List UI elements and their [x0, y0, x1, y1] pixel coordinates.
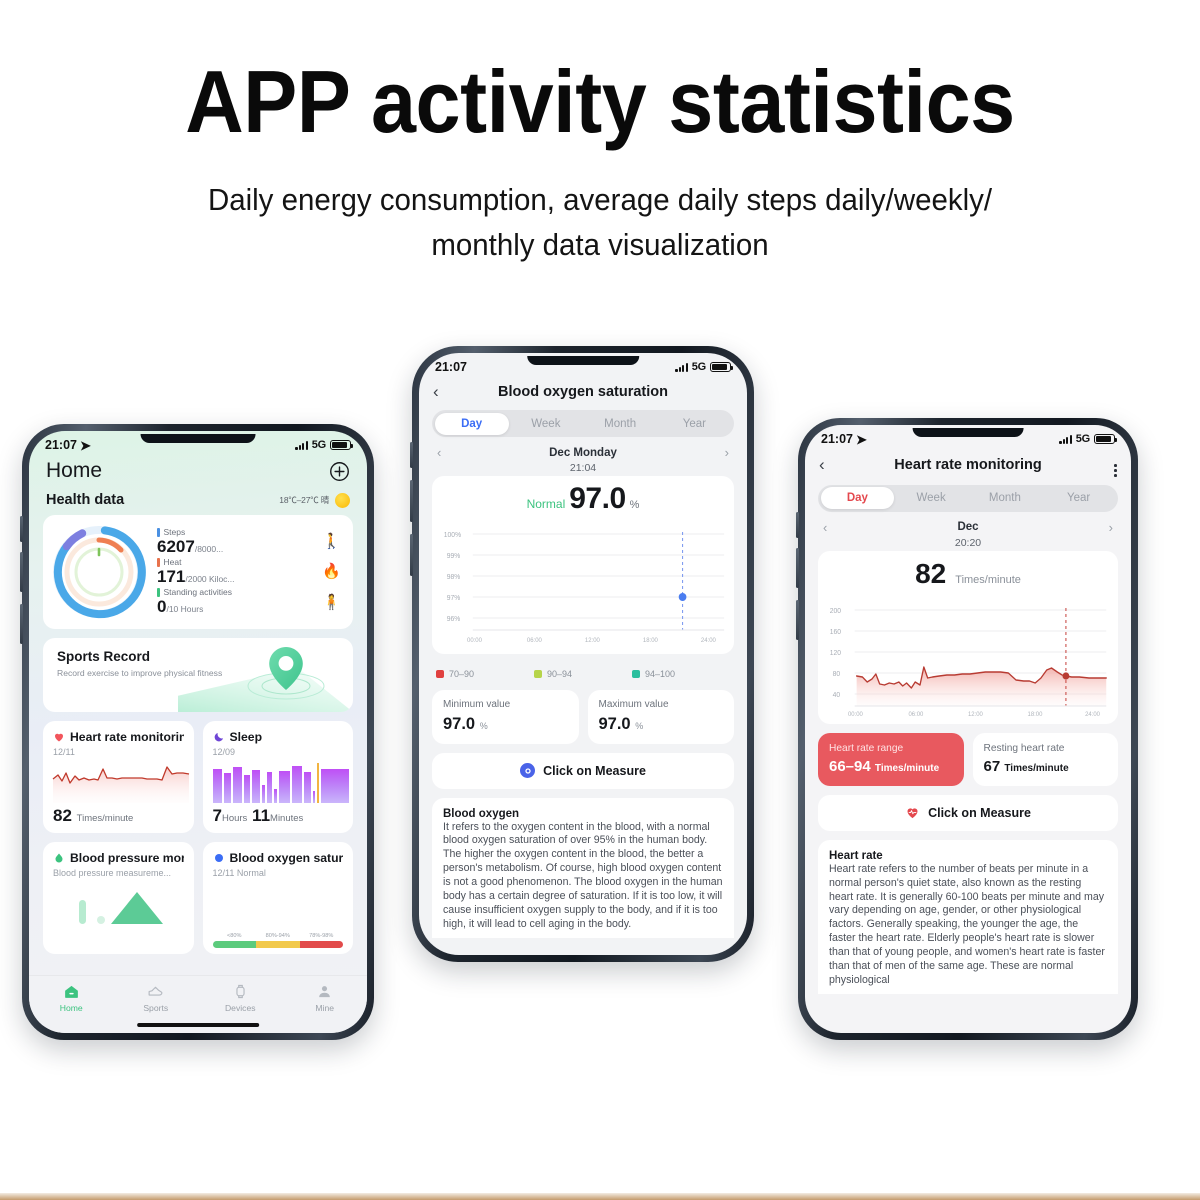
- tab-mine[interactable]: Mine: [283, 983, 368, 1013]
- power-button[interactable]: [796, 600, 799, 640]
- activity-rings: [47, 520, 151, 624]
- network-label: 5G: [692, 361, 706, 373]
- metric-row-steps: Steps 6207/8000... 🚶: [157, 527, 341, 557]
- volume-down-button[interactable]: [796, 548, 799, 588]
- middle-screen: 21:07 5G ‹ Blood oxygen saturation Day W…: [419, 353, 747, 955]
- stat-label: Resting heart rate: [984, 743, 1108, 754]
- legend-swatch: [534, 670, 542, 678]
- info-text: It refers to the oxygen content in the b…: [443, 821, 723, 933]
- tab-devices[interactable]: Devices: [198, 983, 283, 1013]
- back-chevron-left-icon[interactable]: ‹: [433, 382, 453, 402]
- measure-button-label: Click on Measure: [928, 806, 1031, 820]
- mini-card-subtitle: Blood pressure measureme...: [53, 868, 184, 878]
- info-text: Heart rate refers to the number of beats…: [829, 863, 1107, 989]
- mini-card-title: Sleep: [230, 730, 263, 744]
- mini-card-value: 7: [213, 806, 222, 825]
- date-label: Dec: [957, 521, 978, 533]
- standing-icon: 🧍: [322, 595, 341, 610]
- weather-widget: 18℃–27℃ 晴: [279, 493, 350, 508]
- heart-rate-day-chart: 200 160 120 80 40 00:00 06:00 12:00 18:0…: [824, 596, 1112, 718]
- volume-down-button[interactable]: [410, 480, 413, 522]
- metric-row-standing: Standing activities 0/10 Hours 🧍: [157, 587, 341, 617]
- walking-icon: 🚶: [322, 534, 341, 549]
- reading-unit: %: [630, 499, 640, 511]
- status-time: 21:07: [45, 438, 77, 452]
- phone-middle: 21:07 5G ‹ Blood oxygen saturation Day W…: [412, 346, 754, 962]
- legend-item: 70–90: [436, 669, 534, 679]
- stat-value: 97.0: [599, 715, 631, 733]
- stat-value: 97.0: [443, 715, 475, 733]
- svg-text:00:00: 00:00: [467, 637, 483, 644]
- svg-text:24:00: 24:00: [701, 637, 717, 644]
- reading-time: 20:20: [805, 537, 1131, 551]
- measure-button-label: Click on Measure: [543, 764, 646, 778]
- mini-card-unit: Times/minute: [77, 813, 134, 824]
- heart-pulse-icon: [905, 805, 920, 820]
- measure-button[interactable]: Click on Measure: [818, 795, 1118, 831]
- mini-card-unit-2: Minutes: [270, 813, 303, 824]
- minimum-value-card: Minimum value 97.0 %: [432, 690, 579, 744]
- svg-text:100%: 100%: [444, 532, 461, 539]
- svg-text:12:00: 12:00: [968, 711, 983, 717]
- svg-text:40: 40: [833, 691, 841, 698]
- segment-year[interactable]: Year: [1042, 487, 1116, 509]
- mini-card-date: 12/11 Normal: [213, 868, 344, 878]
- notch: [141, 434, 256, 443]
- home-icon: [63, 983, 80, 1000]
- svg-text:96%: 96%: [447, 616, 461, 623]
- volume-up-button[interactable]: [796, 512, 799, 538]
- page-subtitle: Daily energy consumption, average daily …: [154, 178, 1047, 268]
- signal-bars-icon: [1059, 434, 1071, 444]
- resting-heart-rate-card: Resting heart rate 67 Times/minute: [973, 733, 1119, 786]
- tab-sports[interactable]: Sports: [114, 983, 199, 1013]
- metric-unit: /8000...: [195, 544, 223, 554]
- nav-title: Heart rate monitoring: [839, 457, 1097, 473]
- home-header: Home: [29, 455, 367, 483]
- svg-text:120: 120: [830, 649, 841, 656]
- health-data-card[interactable]: Steps 6207/8000... 🚶 Heat 171/2000 Kiloc…: [43, 515, 353, 629]
- next-date-chevron-right-icon[interactable]: ›: [1109, 520, 1113, 535]
- more-vertical-icon[interactable]: [1097, 454, 1117, 477]
- svg-text:18:00: 18:00: [1028, 711, 1043, 717]
- right-body: 82 Times/minute: [805, 551, 1131, 995]
- legend-item: 94–100: [632, 669, 730, 679]
- tab-label: Sports: [143, 1003, 168, 1013]
- network-label: 5G: [1076, 433, 1090, 445]
- legend-swatch: [632, 670, 640, 678]
- mini-card-blood-pressure[interactable]: Blood pressure mor Blood pressure measur…: [43, 842, 194, 954]
- blood-oxygen-info-card: Blood oxygen It refers to the oxygen con…: [432, 798, 734, 939]
- network-label: 5G: [312, 439, 326, 451]
- home-body: Steps 6207/8000... 🚶 Heat 171/2000 Kiloc…: [29, 515, 367, 954]
- stat-unit: %: [635, 721, 643, 731]
- mini-card-unit: Hours: [222, 813, 247, 824]
- map-pin-icon: [178, 638, 353, 712]
- status-time: 21:07: [821, 432, 853, 446]
- reading-status: Normal: [527, 497, 566, 511]
- measure-button[interactable]: Click on Measure: [432, 753, 734, 789]
- plus-circle-icon[interactable]: [329, 461, 350, 482]
- nav-title: Blood oxygen saturation: [453, 384, 713, 400]
- scale-label: 80%-94%: [256, 933, 300, 939]
- notch: [527, 356, 639, 365]
- next-date-chevron-right-icon[interactable]: ›: [725, 445, 729, 460]
- heart-rate-info-card: Heart rate Heart rate refers to the numb…: [818, 840, 1118, 995]
- oxygen-measure-icon: [520, 763, 535, 778]
- mini-cards-row-1: Heart rate monitorin 12/11 82 Times/minu…: [43, 721, 353, 833]
- blood-pressure-illustration: [51, 882, 191, 924]
- chart-legend: 70–90 90–94 94–100: [432, 662, 734, 681]
- segment-month[interactable]: Month: [968, 487, 1042, 509]
- metric-label: Heat: [164, 557, 182, 567]
- scale-label: 78%-98%: [300, 933, 344, 939]
- mini-card-blood-oxygen[interactable]: Blood oxygen satur 12/11 Normal <80% 80%…: [203, 842, 354, 954]
- segment-day[interactable]: Day: [435, 413, 509, 435]
- flame-icon: 🔥: [322, 564, 341, 579]
- tab-label: Mine: [315, 1003, 334, 1013]
- date-label: Dec Monday: [549, 447, 617, 459]
- legend-label: 94–100: [645, 669, 675, 679]
- svg-text:06:00: 06:00: [908, 711, 923, 717]
- blood-oxygen-summary-card: Normal 97.0 %: [432, 476, 734, 654]
- mini-card-title: Blood oxygen satur: [230, 851, 344, 865]
- info-title: Blood oxygen: [443, 808, 723, 820]
- signal-bars-icon: [295, 440, 307, 450]
- notch: [913, 428, 1024, 437]
- stat-value: 66–94: [829, 758, 871, 775]
- blood-oxygen-scale: <80% 80%-94% 78%-98%: [213, 933, 344, 948]
- mini-card-title: Heart rate monitorin: [70, 730, 184, 744]
- date-navigator: ‹ Dec Monday ›: [419, 437, 747, 462]
- svg-text:24:00: 24:00: [1085, 711, 1100, 717]
- mini-card-sleep[interactable]: Sleep 12/09: [203, 721, 354, 833]
- svg-text:160: 160: [830, 628, 841, 635]
- legend-label: 90–94: [547, 669, 572, 679]
- right-screen: 21:07 ➤ 5G ‹ Heart rate monitoring Day W: [805, 425, 1131, 1033]
- mini-card-date: 12/11: [53, 747, 184, 757]
- mini-card-value-2: 11: [252, 806, 270, 825]
- phone-right: 21:07 ➤ 5G ‹ Heart rate monitoring Day W: [798, 418, 1138, 1040]
- heart-rate-range-card: Heart rate range 66–94 Times/minute: [818, 733, 964, 786]
- heart-rate-summary-card: 82 Times/minute: [818, 551, 1118, 724]
- circle-icon: [213, 852, 225, 864]
- weather-text: 18℃–27℃ 晴: [279, 494, 329, 506]
- battery-icon: [330, 440, 351, 451]
- signal-bars-icon: [675, 362, 687, 372]
- health-data-title: Health data: [46, 492, 124, 508]
- sun-icon: [335, 493, 350, 508]
- segment-month[interactable]: Month: [583, 413, 657, 435]
- segment-week[interactable]: Week: [509, 413, 583, 435]
- mini-card-date: 12/09: [213, 747, 344, 757]
- battery-icon: [1094, 434, 1115, 445]
- tab-label: Devices: [225, 1003, 256, 1013]
- location-arrow-icon: ➤: [856, 433, 867, 446]
- stat-label: Heart rate range: [829, 743, 953, 754]
- segment-year[interactable]: Year: [657, 413, 731, 435]
- power-button[interactable]: [20, 604, 23, 644]
- svg-text:97%: 97%: [447, 595, 461, 602]
- period-segmented-control[interactable]: Day Week Month Year: [432, 410, 734, 437]
- volume-down-button[interactable]: [20, 552, 23, 592]
- tab-home[interactable]: Home: [29, 983, 114, 1013]
- svg-text:06:00: 06:00: [527, 637, 543, 644]
- table-edge-strip: [0, 1193, 1200, 1200]
- info-title: Heart rate: [829, 850, 1107, 862]
- person-icon: [316, 983, 333, 1000]
- moon-icon: [213, 731, 225, 743]
- status-time: 21:07: [435, 360, 467, 374]
- volume-up-button[interactable]: [410, 442, 413, 468]
- maximum-value-card: Maximum value 97.0 %: [588, 690, 735, 744]
- health-metrics-list: Steps 6207/8000... 🚶 Heat 171/2000 Kiloc…: [151, 525, 343, 619]
- tab-label: Home: [60, 1003, 83, 1013]
- stat-unit: %: [480, 721, 488, 731]
- power-button[interactable]: [410, 534, 413, 576]
- metric-value: 171: [157, 567, 185, 586]
- reading-value: 97.0: [569, 482, 625, 516]
- phone-left: 21:07 ➤ 5G Home Health data: [22, 424, 374, 1040]
- svg-text:00:00: 00:00: [848, 711, 863, 717]
- svg-text:98%: 98%: [447, 574, 461, 581]
- stat-unit: Times/minute: [1004, 763, 1068, 774]
- back-chevron-left-icon[interactable]: ‹: [819, 455, 839, 475]
- segment-week[interactable]: Week: [894, 487, 968, 509]
- period-segmented-control[interactable]: Day Week Month Year: [818, 485, 1118, 512]
- stat-value: 67: [984, 758, 1001, 775]
- legend-swatch: [436, 670, 444, 678]
- sports-record-card[interactable]: Sports Record Record exercise to improve…: [43, 638, 353, 712]
- home-title: Home: [46, 459, 102, 483]
- reading-time: 21:04: [419, 462, 747, 476]
- page-title: APP activity statistics: [48, 58, 1152, 146]
- metric-label: Standing activities: [164, 587, 233, 597]
- mini-card-heart-rate[interactable]: Heart rate monitorin 12/11 82 Times/minu…: [43, 721, 194, 833]
- scale-label: <80%: [213, 933, 257, 939]
- location-arrow-icon: ➤: [80, 439, 91, 452]
- stat-label: Minimum value: [443, 699, 568, 712]
- svg-text:99%: 99%: [447, 553, 461, 560]
- legend-item: 90–94: [534, 669, 632, 679]
- legend-label: 70–90: [449, 669, 474, 679]
- metric-row-heat: Heat 171/2000 Kiloc... 🔥: [157, 557, 341, 587]
- home-sleep-mini-chart: [211, 761, 351, 803]
- stat-label: Maximum value: [599, 699, 724, 712]
- drop-icon: [53, 852, 65, 864]
- reading-value: 82: [915, 558, 946, 590]
- reading-unit: Times/minute: [955, 574, 1021, 586]
- svg-text:18:00: 18:00: [643, 637, 659, 644]
- segment-day[interactable]: Day: [821, 487, 895, 509]
- volume-up-button[interactable]: [20, 516, 23, 542]
- prev-date-chevron-left-icon[interactable]: ‹: [437, 445, 441, 460]
- watch-icon: [232, 983, 249, 1000]
- nav-bar: ‹ Heart rate monitoring: [805, 449, 1131, 485]
- date-navigator: ‹ Dec ›: [805, 512, 1131, 537]
- metric-unit: /10 Hours: [166, 604, 203, 614]
- middle-body: Normal 97.0 %: [419, 476, 747, 938]
- svg-text:80: 80: [833, 670, 841, 677]
- home-indicator: [137, 1023, 259, 1027]
- mini-cards-row-2: Blood pressure mor Blood pressure measur…: [43, 842, 353, 954]
- prev-date-chevron-left-icon[interactable]: ‹: [823, 520, 827, 535]
- metric-unit: /2000 Kiloc...: [185, 574, 234, 584]
- minmax-row: Minimum value 97.0 % Maximum value 97.0 …: [432, 690, 734, 744]
- home-heart-rate-mini-chart: [51, 761, 191, 803]
- svg-text:200: 200: [830, 607, 841, 614]
- mini-card-value: 82: [53, 806, 72, 825]
- battery-icon: [710, 362, 731, 373]
- shoe-icon: [147, 983, 164, 1000]
- metric-label: Steps: [164, 527, 186, 537]
- blood-oxygen-day-chart: 100% 99% 98% 97% 96% 00:00 06:00 12:00 1…: [438, 518, 728, 646]
- metric-value: 6207: [157, 537, 195, 556]
- heart-rate-stats-row: Heart rate range 66–94 Times/minute Rest…: [818, 733, 1118, 786]
- mini-card-title: Blood pressure mor: [70, 851, 184, 865]
- heart-icon: [53, 731, 65, 743]
- health-data-section-header: Health data 18℃–27℃ 晴: [29, 483, 367, 515]
- left-screen: 21:07 ➤ 5G Home Health data: [29, 431, 367, 1033]
- nav-bar: ‹ Blood oxygen saturation: [419, 377, 747, 410]
- stat-unit: Times/minute: [875, 763, 939, 774]
- svg-text:12:00: 12:00: [585, 637, 601, 644]
